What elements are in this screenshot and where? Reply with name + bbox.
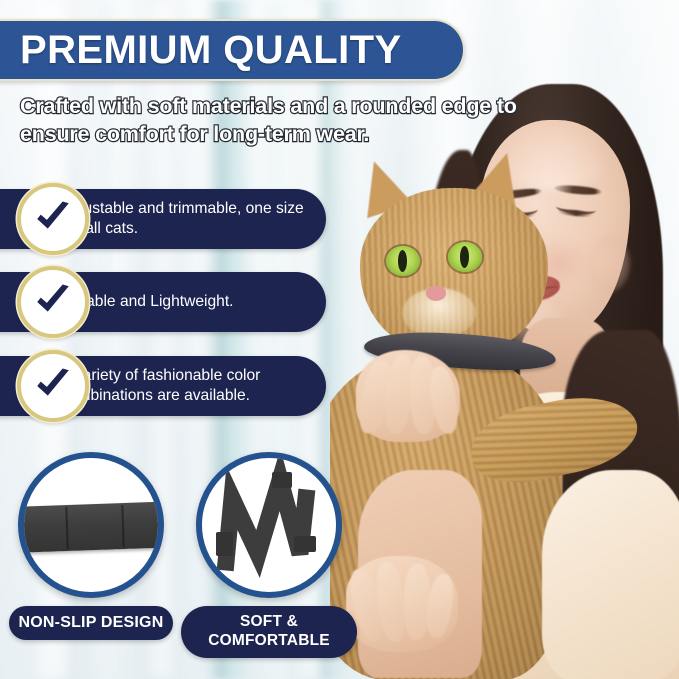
circle-feature-label: SOFT & COMFORTABLE (181, 606, 357, 658)
feature-pill: Adjustable and trimmable, one size fits … (0, 189, 326, 249)
checkmark-icon (17, 183, 89, 255)
m-folded-strap-image (196, 452, 342, 598)
checkmark-icon (17, 266, 89, 338)
feature-pill: A variety of fashionable color combinati… (0, 356, 326, 416)
folded-strap-graphic (202, 458, 336, 592)
premium-quality-banner: PREMIUM QUALITY (0, 19, 465, 81)
cardigan-sleeve (542, 470, 679, 679)
feature-label: Adjustable and trimmable, one size fits … (61, 199, 326, 239)
cat-nose (426, 286, 446, 301)
circle-feature-label: NON-SLIP DESIGN (9, 606, 173, 640)
product-infographic: PREMIUM QUALITY Crafted with soft materi… (0, 0, 679, 679)
collar-strap-graphic (18, 501, 164, 553)
ear (588, 236, 630, 292)
feature-label: A variety of fashionable color combinati… (61, 366, 326, 406)
feature-pill: Durable and Lightweight. (0, 272, 326, 332)
subtitle-text: Crafted with soft materials and a rounde… (20, 92, 520, 149)
circle-feature-soft-comfortable: SOFT & COMFORTABLE (196, 452, 357, 658)
page-title: PREMIUM QUALITY (20, 30, 402, 70)
flat-collar-strap-image (18, 452, 164, 598)
cat-eye (448, 242, 482, 272)
cat-eye (386, 246, 420, 276)
hand (346, 556, 458, 652)
hand (356, 350, 460, 442)
checkmark-icon (17, 350, 89, 422)
circle-feature-non-slip: NON-SLIP DESIGN (18, 452, 173, 640)
